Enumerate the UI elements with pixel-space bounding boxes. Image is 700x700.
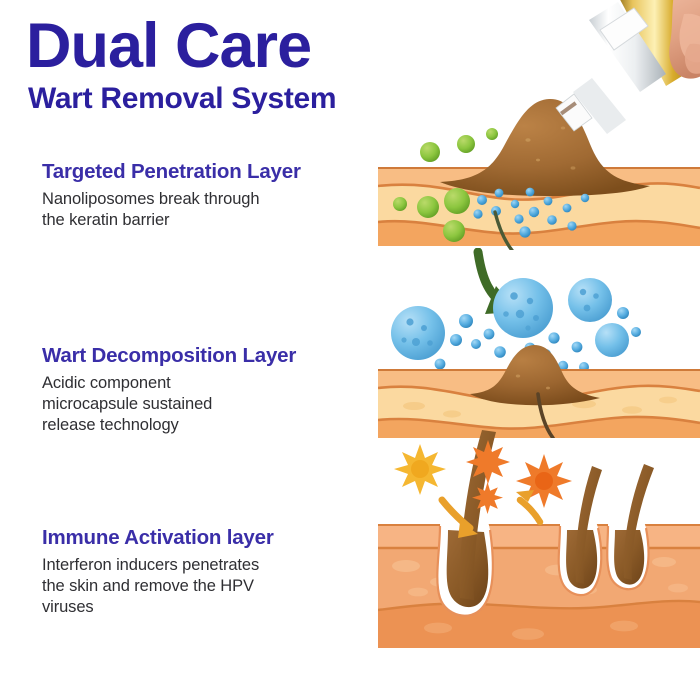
wart-speck (561, 127, 565, 130)
feature-body: Interferon inducers penetrates the skin … (42, 555, 362, 618)
feature-body-line: release technology (42, 416, 179, 434)
wart-speck (546, 387, 550, 390)
feature-block-targeted-penetration: Targeted Penetration Layer Nanoliposomes… (42, 160, 362, 231)
hand (669, 0, 700, 79)
wart-decomposition-illustration (378, 248, 700, 438)
green-particles (420, 128, 498, 162)
targeted-penetration-illustration (378, 0, 700, 250)
infographic-root: Dual Care Wart Removal System Targeted P… (0, 0, 700, 700)
feature-body-line: Nanoliposomes break through (42, 190, 259, 208)
feature-body-line: the keratin barrier (42, 211, 169, 229)
feature-body-line: Interferon inducers penetrates (42, 556, 259, 574)
immune-activation-illustration (378, 430, 700, 655)
feature-block-wart-decomposition: Wart Decomposition Layer Acidic componen… (42, 344, 362, 436)
blue-microcapsules (391, 278, 629, 360)
page-subtitle: Wart Removal System (28, 82, 426, 115)
wart-speck (536, 159, 540, 162)
feature-body-line: viruses (42, 598, 94, 616)
feature-title: Wart Decomposition Layer (42, 344, 362, 368)
wart-speck (525, 138, 530, 142)
page-title-block: Dual Care Wart Removal System (26, 16, 426, 115)
feature-block-immune-activation: Immune Activation layer Interferon induc… (42, 526, 362, 618)
wart-speck (516, 375, 520, 378)
feature-body-line: the skin and remove the HPV (42, 577, 254, 595)
skin-cross-section (378, 525, 700, 648)
wart-speck (571, 166, 576, 169)
feature-body: Acidic component microcapsule sustained … (42, 373, 362, 436)
feature-title: Targeted Penetration Layer (42, 160, 362, 184)
feature-body-line: microcapsule sustained (42, 395, 212, 413)
page-title: Dual Care (26, 16, 426, 76)
hair-follicle (559, 466, 602, 595)
gold-arrow-right (516, 490, 540, 522)
yellow-star-burst (394, 444, 446, 495)
feature-title: Immune Activation layer (42, 526, 362, 550)
feature-body-line: Acidic component (42, 374, 171, 392)
feature-body: Nanoliposomes break through the keratin … (42, 189, 362, 231)
applicator-with-hand (556, 0, 700, 134)
